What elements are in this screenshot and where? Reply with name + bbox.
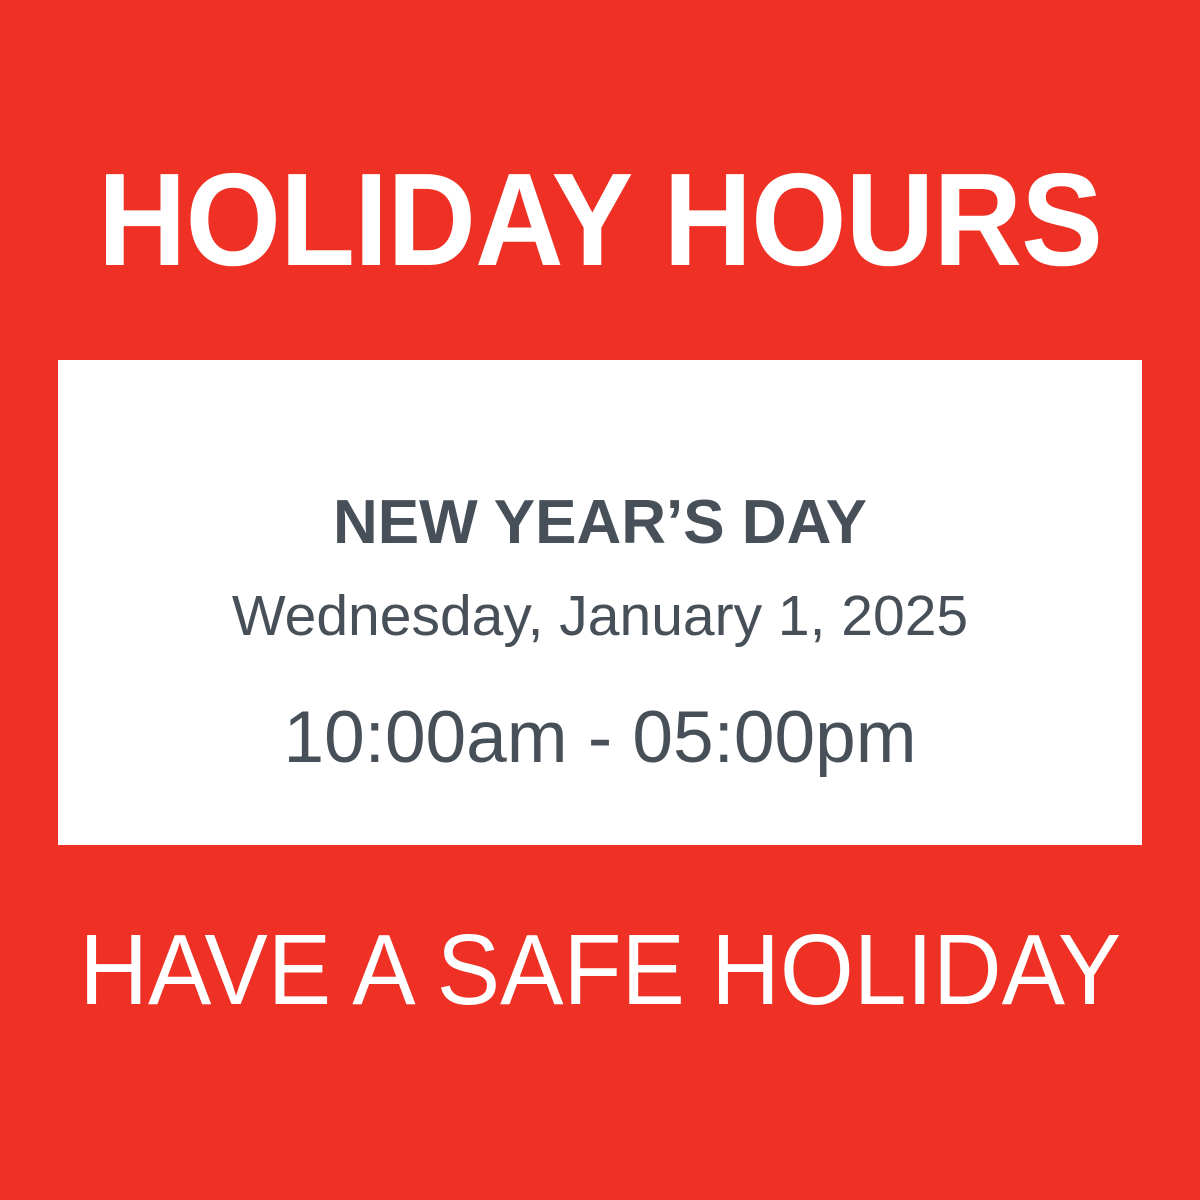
holiday-date: Wednesday, January 1, 2025: [232, 588, 968, 645]
holiday-hours: 10:00am - 05:00pm: [283, 701, 916, 774]
headline-banner: HOLIDAY HOURS: [0, 150, 1200, 290]
footer-banner: HAVE A SAFE HOLIDAY: [0, 905, 1200, 1035]
holiday-name: NEW YEAR’S DAY: [333, 492, 867, 554]
holiday-info-card: NEW YEAR’S DAY Wednesday, January 1, 202…: [58, 360, 1142, 845]
page-title: HOLIDAY HOURS: [98, 154, 1102, 286]
footer-message: HAVE A SAFE HOLIDAY: [79, 920, 1121, 1020]
holiday-hours-poster: HOLIDAY HOURS NEW YEAR’S DAY Wednesday, …: [0, 0, 1200, 1200]
